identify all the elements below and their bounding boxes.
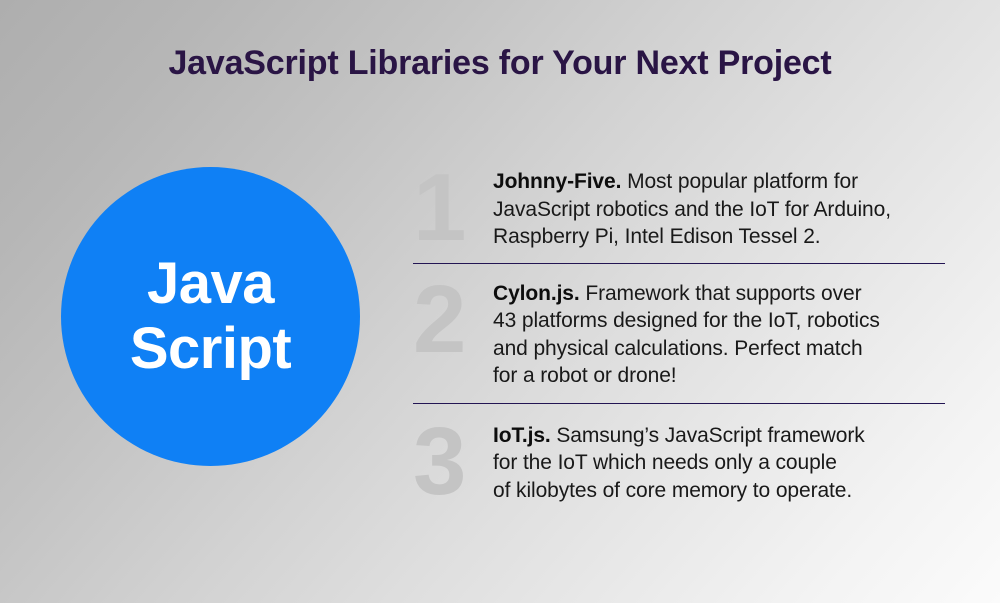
list-item-line: for the IoT which needs only a couple [493,449,947,477]
library-list: 1 Johnny-Five. Most popular platform for… [413,166,947,504]
list-item: 1 Johnny-Five. Most popular platform for… [413,166,947,263]
list-item-number: 3 [413,424,493,501]
list-item-line-text: Samsung’s JavaScript framework [551,424,865,447]
list-item-number: 1 [413,170,493,247]
list-item-line-text: Framework that supports over [580,282,862,305]
list-divider [413,403,945,404]
list-item-line: Raspberry Pi, Intel Edison Tessel 2. [493,223,947,251]
badge-line-script: Script [130,317,291,382]
list-item-term: Cylon.js. [493,282,580,305]
list-divider [413,263,945,264]
list-item-line: and physical calculations. Perfect match [493,335,947,363]
list-item-line: 43 platforms designed for the IoT, robot… [493,307,947,335]
infographic-canvas: JavaScript Libraries for Your Next Proje… [0,0,1000,603]
list-item-line: Cylon.js. Framework that supports over [493,280,947,308]
list-item-term: Johnny-Five. [493,170,621,193]
list-item-line: IoT.js. Samsung’s JavaScript framework [493,422,947,450]
javascript-circle-badge: Java Script [61,167,360,466]
list-item-line-text: Most popular platform for [621,170,858,193]
list-item-line: JavaScript robotics and the IoT for Ardu… [493,196,947,224]
list-item-term: IoT.js. [493,424,551,447]
list-item-body: Cylon.js. Framework that supports over 4… [493,278,947,390]
list-item-body: Johnny-Five. Most popular platform for J… [493,166,947,251]
list-item-body: IoT.js. Samsung’s JavaScript framework f… [493,420,947,505]
list-item-number: 2 [413,282,493,359]
badge-line-java: Java [147,252,274,317]
list-item-line: Johnny-Five. Most popular platform for [493,168,947,196]
page-title: JavaScript Libraries for Your Next Proje… [0,44,1000,83]
list-item: 2 Cylon.js. Framework that supports over… [413,278,947,403]
list-item: 3 IoT.js. Samsung’s JavaScript framework… [413,420,947,505]
list-item-line: of kilobytes of core memory to operate. [493,477,947,505]
list-item-line: for a robot or drone! [493,362,947,390]
